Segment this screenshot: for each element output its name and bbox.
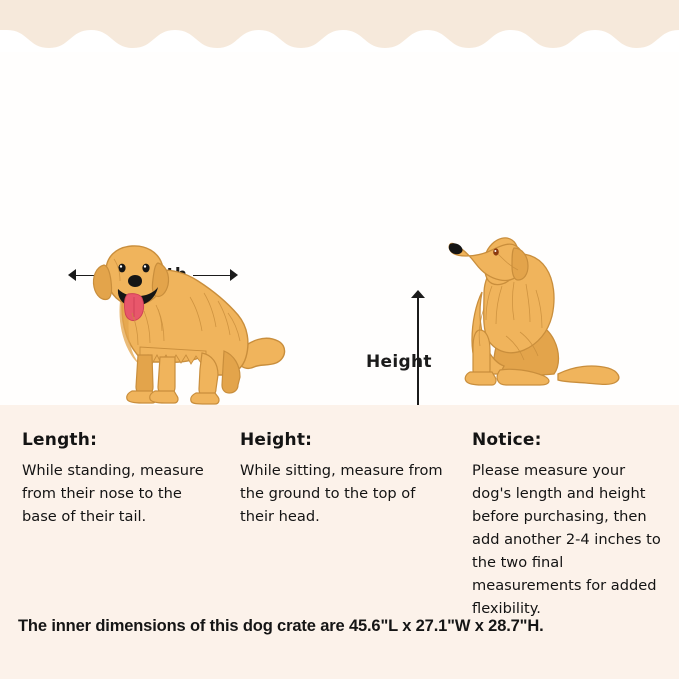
illustration-area: Length: [0, 52, 679, 405]
info-column-height-body: While sitting, measure from the ground t…: [240, 459, 452, 528]
info-column-length: Length: While standing, measure from the…: [0, 430, 232, 620]
sitting-dog-icon: [440, 228, 630, 393]
header-scallop-band: [0, 0, 679, 52]
info-columns: Length: While standing, measure from the…: [0, 430, 679, 620]
info-column-notice-heading: Notice:: [472, 430, 665, 450]
info-column-height-heading: Height:: [240, 430, 452, 450]
info-column-length-body: While standing, measure from their nose …: [22, 459, 220, 528]
info-column-length-heading: Length:: [22, 430, 220, 450]
info-panel: Length: While standing, measure from the…: [0, 405, 679, 679]
info-column-notice-body: Please measure your dog's length and hei…: [472, 459, 665, 620]
crate-dimensions-footnote: The inner dimensions of this dog crate a…: [18, 617, 544, 636]
infographic-page: How to choose an appropriate crate for y…: [0, 0, 679, 679]
standing-dog-icon: [62, 235, 292, 405]
info-column-notice: Notice: Please measure your dog's length…: [464, 430, 679, 620]
info-column-height: Height: While sitting, measure from the …: [232, 430, 464, 620]
